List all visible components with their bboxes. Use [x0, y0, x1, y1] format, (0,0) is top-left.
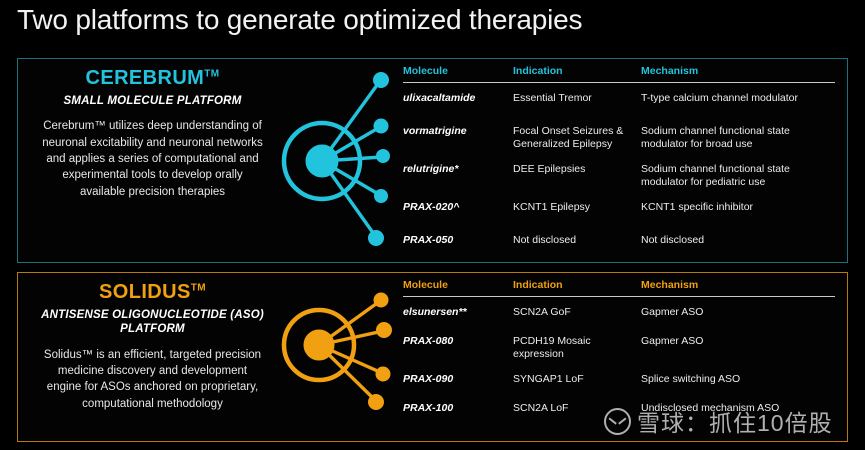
cell-mechanism: Undisclosed mechanism ASO [641, 393, 835, 422]
platform-description-block: CEREBRUMTM SMALL MOLECULE PLATFORM Cereb… [30, 67, 275, 200]
table-row: relutrigine* DEE Epilepsies Sodium chann… [403, 154, 835, 192]
cell-indication: KCNT1 Epilepsy [513, 192, 641, 225]
trademark-symbol: TM [191, 282, 206, 293]
table-row: PRAX-090 SYNGAP1 LoF Splice switching AS… [403, 364, 835, 393]
column-header-indication: Indication [513, 279, 641, 297]
cell-molecule: PRAX-090 [403, 364, 513, 393]
platform-subtitle-cerebrum: SMALL MOLECULE PLATFORM [30, 94, 275, 108]
column-header-mechanism: Mechanism [641, 65, 835, 83]
cell-molecule: relutrigine* [403, 154, 513, 192]
platform-description-block: SOLIDUSTM ANTISENSE OLIGONUCLEOTIDE (ASO… [30, 281, 275, 412]
table-row: PRAX-100 SCN2A LoF Undisclosed mechanism… [403, 393, 835, 422]
platform-body-solidus: Solidus™ is an efficient, targeted preci… [30, 347, 275, 412]
table-row: PRAX-020^ KCNT1 Epilepsy KCNT1 specific … [403, 192, 835, 225]
trademark-symbol: TM [204, 68, 219, 79]
platform-title-cerebrum: CEREBRUMTM [30, 67, 275, 90]
cell-molecule: PRAX-100 [403, 393, 513, 422]
cell-indication: PCDH19 Mosaic expression [513, 326, 641, 364]
table-header-row: Molecule Indication Mechanism [403, 65, 835, 83]
cell-indication: Focal Onset Seizures & Generalized Epile… [513, 116, 641, 154]
table-row: PRAX-080 PCDH19 Mosaic expression Gapmer… [403, 326, 835, 364]
slide-root: Two platforms to generate optimized ther… [0, 0, 865, 450]
cell-mechanism: Not disclosed [641, 225, 835, 258]
column-header-molecule: Molecule [403, 65, 513, 83]
pipeline-table-cerebrum: Molecule Indication Mechanism ulixacalta… [403, 65, 835, 258]
cell-mechanism: Gapmer ASO [641, 297, 835, 326]
cell-molecule: PRAX-050 [403, 225, 513, 258]
table-header-row: Molecule Indication Mechanism [403, 279, 835, 297]
cell-mechanism: Splice switching ASO [641, 364, 835, 393]
cell-molecule: ulixacaltamide [403, 83, 513, 116]
hub-and-spoke-icon-solidus [276, 285, 401, 415]
column-header-molecule: Molecule [403, 279, 513, 297]
column-header-indication: Indication [513, 65, 641, 83]
platform-card-cerebrum: CEREBRUMTM SMALL MOLECULE PLATFORM Cereb… [17, 58, 848, 263]
cell-indication: SCN2A LoF [513, 393, 641, 422]
cell-molecule: PRAX-020^ [403, 192, 513, 225]
cell-indication: Essential Tremor [513, 83, 641, 116]
column-header-mechanism: Mechanism [641, 279, 835, 297]
cell-mechanism: Sodium channel functional state modulato… [641, 154, 835, 192]
table-row: PRAX-050 Not disclosed Not disclosed [403, 225, 835, 258]
cell-molecule: PRAX-080 [403, 326, 513, 364]
cell-mechanism: Gapmer ASO [641, 326, 835, 364]
cell-indication: SYNGAP1 LoF [513, 364, 641, 393]
platform-subtitle-solidus: ANTISENSE OLIGONUCLEOTIDE (ASO) PLATFORM [30, 308, 275, 337]
table-row: elsunersen** SCN2A GoF Gapmer ASO [403, 297, 835, 326]
page-title: Two platforms to generate optimized ther… [17, 4, 582, 36]
platform-body-cerebrum: Cerebrum™ utilizes deep understanding of… [30, 118, 275, 200]
cell-indication: DEE Epilepsies [513, 154, 641, 192]
table-row: ulixacaltamide Essential Tremor T-type c… [403, 83, 835, 116]
pipeline-table-solidus: Molecule Indication Mechanism elsunersen… [403, 279, 835, 422]
cell-indication: SCN2A GoF [513, 297, 641, 326]
cell-indication: Not disclosed [513, 225, 641, 258]
cell-mechanism: T-type calcium channel modulator [641, 83, 835, 116]
platform-title-solidus: SOLIDUSTM [30, 281, 275, 304]
table-row: vormatrigine Focal Onset Seizures & Gene… [403, 116, 835, 154]
cell-molecule: vormatrigine [403, 116, 513, 154]
hub-and-spoke-icon-cerebrum [276, 65, 401, 255]
cell-mechanism: Sodium channel functional state modulato… [641, 116, 835, 154]
cell-mechanism: KCNT1 specific inhibitor [641, 192, 835, 225]
cell-molecule: elsunersen** [403, 297, 513, 326]
platform-card-solidus: SOLIDUSTM ANTISENSE OLIGONUCLEOTIDE (ASO… [17, 272, 848, 442]
